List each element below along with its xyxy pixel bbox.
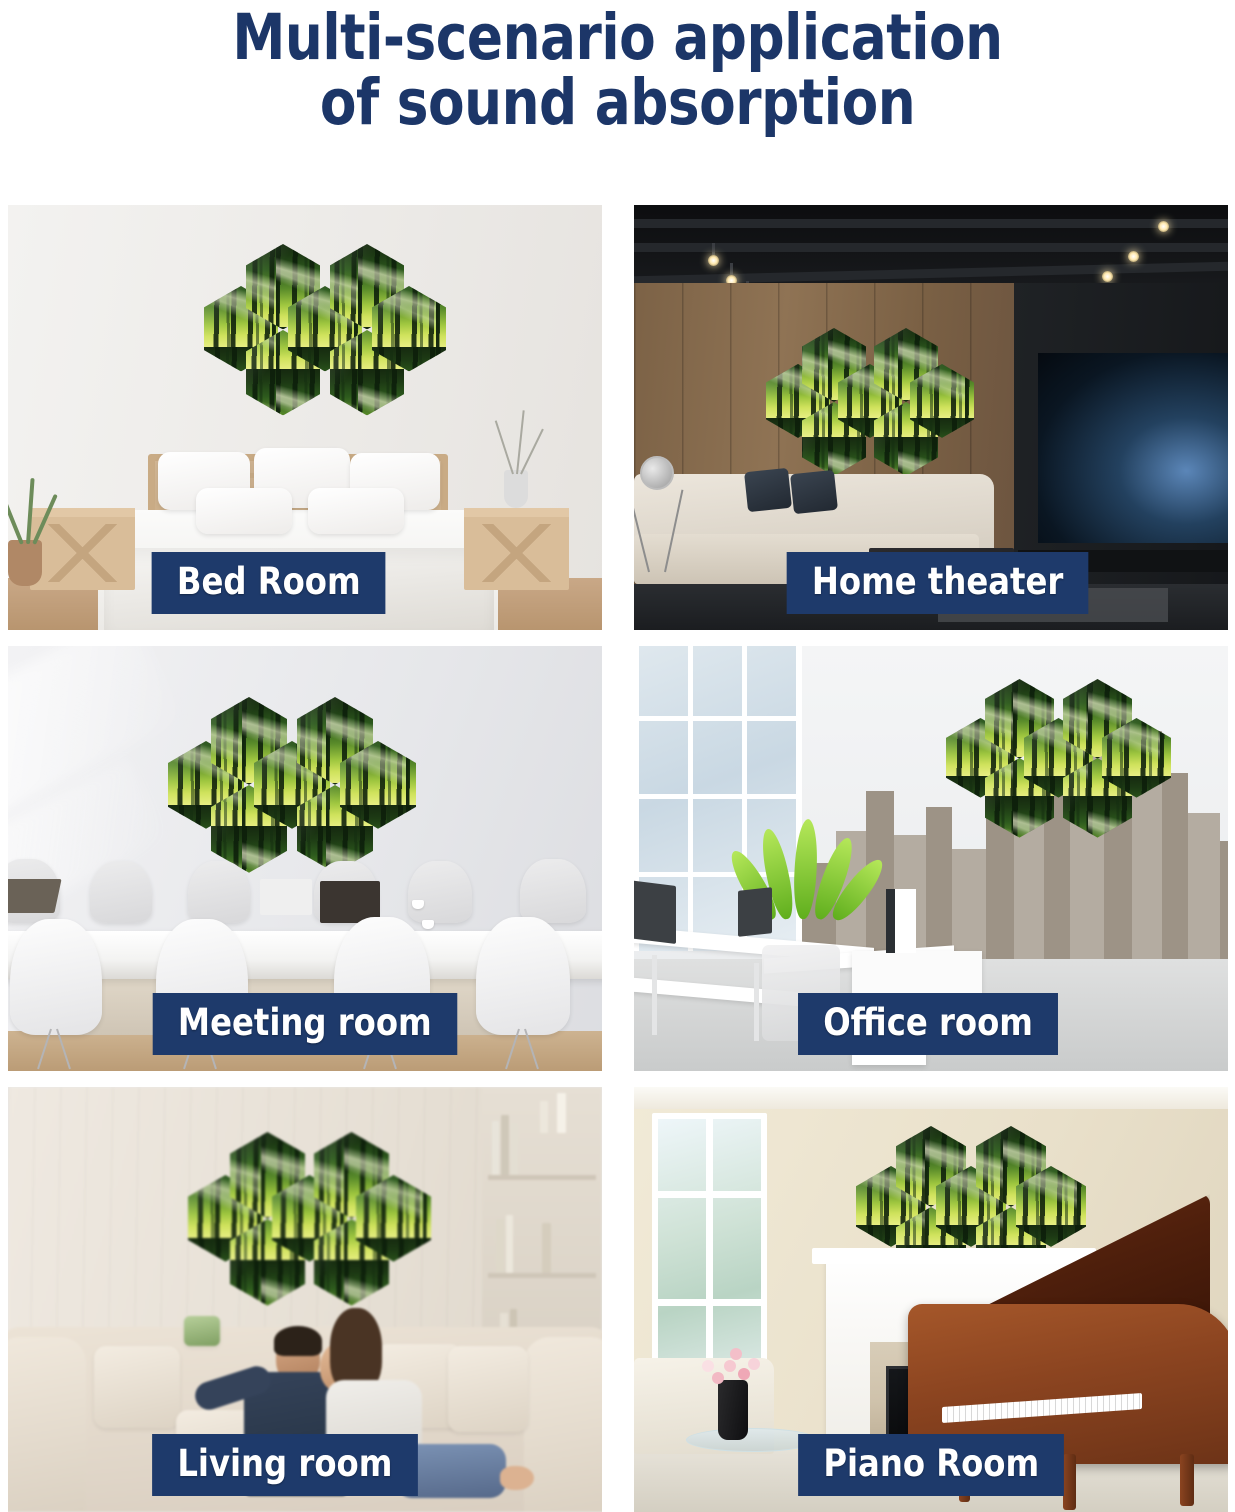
scene-label-badge: Meeting room [153, 993, 457, 1055]
page-title-line-1: Multi-scenario application [37, 6, 1198, 71]
sofa-cushion [448, 1346, 528, 1432]
scene-card-meeting-room[interactable]: Meeting room [8, 646, 602, 1071]
chair [408, 861, 472, 923]
track-light [1128, 251, 1139, 262]
sofa-armrest [524, 1337, 602, 1512]
laptop [260, 879, 312, 915]
scene-label-badge: Living room [152, 1434, 417, 1496]
book [496, 1219, 504, 1273]
desk-leg [652, 955, 657, 1035]
scene-card-home-theater[interactable]: Home theater [634, 205, 1228, 630]
binder [886, 889, 916, 953]
nightstand [464, 508, 569, 590]
flower [712, 1372, 724, 1384]
chair [90, 861, 152, 923]
track-light [708, 255, 719, 266]
skyline-bar [1220, 841, 1228, 959]
coffee-cup [422, 920, 434, 929]
monitor [634, 880, 676, 944]
tv-screen [1038, 353, 1228, 543]
shelf-row [488, 1273, 596, 1278]
piano-leg [1180, 1454, 1194, 1506]
chair [10, 919, 102, 1035]
scene-label-badge: Bed Room [152, 552, 386, 614]
scene-label-badge: Office room [798, 993, 1058, 1055]
window-mullion [652, 1299, 767, 1306]
plant-pot [8, 540, 42, 586]
sofa-cushion [94, 1346, 180, 1428]
hexagon-panel-cluster [946, 676, 1176, 866]
crown-molding [634, 1087, 1228, 1109]
ceiling-beam [634, 243, 1228, 252]
pillow [308, 488, 404, 534]
flower [724, 1360, 736, 1372]
flower [738, 1368, 750, 1380]
flower [748, 1358, 760, 1370]
book [501, 1115, 509, 1175]
throw-cushion [790, 470, 838, 514]
chair [520, 859, 586, 923]
sofa-armrest [8, 1337, 86, 1512]
book [542, 1223, 551, 1273]
person-hair [274, 1326, 322, 1356]
coffee-cup [412, 900, 424, 909]
scene-card-office-room[interactable]: Office room [634, 646, 1228, 1071]
studio-lamp [640, 456, 674, 490]
throw-cushion [744, 468, 792, 512]
hexagon-panel-cluster [188, 1129, 440, 1339]
window-mullion [634, 716, 802, 721]
desk-leg [754, 963, 759, 1041]
book [511, 1123, 518, 1175]
candle [557, 1093, 566, 1133]
book [506, 1215, 513, 1273]
track-light [1158, 221, 1169, 232]
person-foot [500, 1466, 534, 1490]
scene-label-badge: Home theater [787, 552, 1089, 614]
shelf-row [488, 1175, 596, 1180]
pillow [196, 488, 292, 534]
candle [540, 1101, 548, 1133]
ceiling-beam [634, 219, 1228, 228]
scene-card-living-room[interactable]: Living room [8, 1087, 602, 1512]
hexagon-panel-cluster [204, 240, 449, 450]
scene-card-piano-room[interactable]: Piano Room [634, 1087, 1228, 1512]
window-mullion [652, 1191, 767, 1198]
page-title: Multi-scenario application of sound abso… [0, 0, 1235, 136]
book [492, 1121, 499, 1175]
scene-label-badge: Piano Room [798, 1434, 1064, 1496]
window-mullion [634, 794, 802, 799]
flower [730, 1348, 742, 1360]
vase [718, 1380, 748, 1440]
scene-card-bed-room[interactable]: Bed Room [8, 205, 602, 630]
track-light [1102, 271, 1113, 282]
potted-plant [184, 1316, 220, 1346]
piano-leg [1063, 1454, 1076, 1510]
chair [476, 917, 570, 1035]
vase [504, 470, 528, 508]
laptop [8, 879, 62, 913]
mantel-shelf [812, 1248, 1096, 1264]
page-title-line-2: of sound absorption [37, 71, 1198, 136]
chair [188, 861, 250, 923]
monitor [738, 887, 772, 937]
skyline-bar [1188, 813, 1220, 959]
scenario-grid: Bed Room [8, 205, 1228, 1512]
flower [702, 1360, 714, 1372]
